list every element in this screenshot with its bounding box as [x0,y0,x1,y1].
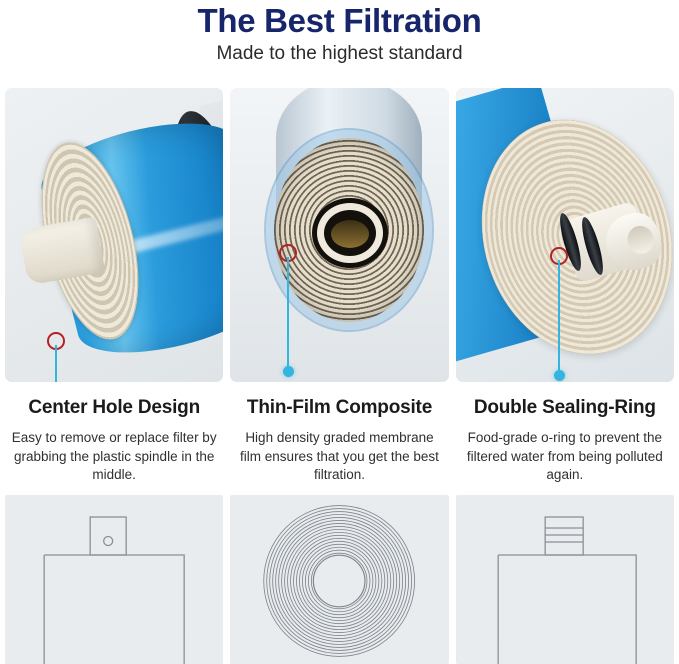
feature-column-thin-film-composite: Thin-Film Composite High density graded … [230,88,448,664]
product-photo-thin-film-composite [230,88,448,382]
permeate-center-tube [324,210,376,256]
feature-title: Thin-Film Composite [236,396,442,420]
diagram-spindle-o-ring-grooves [456,495,674,664]
feature-text-center-hole-design: Center Hole Design Easy to remove or rep… [5,382,223,491]
spiral-membrane-icon [230,495,448,664]
feature-title: Double Sealing-Ring [462,396,668,420]
page-title: The Best Filtration [0,2,679,40]
diagram-spiral-cross-section [230,495,448,664]
spindle-center-hole-icon [5,495,223,664]
feature-column-center-hole-design: Center Hole Design Easy to remove or rep… [5,88,223,664]
leader-endpoint-dot-icon [554,370,565,381]
center-hole [314,555,366,607]
product-photo-double-sealing-ring [456,88,674,382]
header: The Best Filtration Made to the highest … [0,0,679,67]
leader-line [55,345,57,382]
feature-text-double-sealing-ring: Double Sealing-Ring Food-grade o-ring to… [456,382,674,491]
leader-line [287,257,289,371]
feature-columns: Center Hole Design Easy to remove or rep… [0,88,679,664]
feature-text-thin-film-composite: Thin-Film Composite High density graded … [230,382,448,491]
product-photo-center-hole-design [5,88,223,382]
leader-line [558,260,560,375]
feature-title: Center Hole Design [11,396,217,420]
feature-column-double-sealing-ring: Double Sealing-Ring Food-grade o-ring to… [456,88,674,664]
feature-description: Food-grade o-ring to prevent the filtere… [462,429,668,485]
spindle-o-ring-icon [456,495,674,664]
page-subtitle: Made to the highest standard [0,41,679,67]
feature-description: Easy to remove or replace filter by grab… [11,429,217,485]
diagram-spindle-center-hole [5,495,223,664]
feature-description: High density graded membrane film ensure… [236,429,442,485]
